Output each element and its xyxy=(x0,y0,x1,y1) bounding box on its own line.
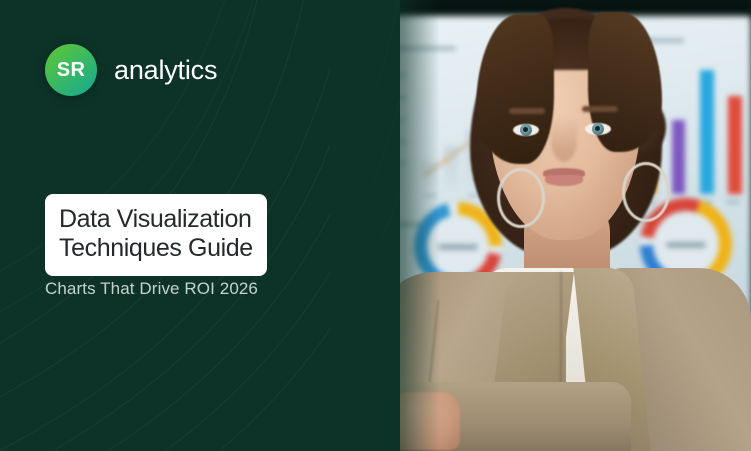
brand-logo-badge[interactable]: SR xyxy=(45,44,97,96)
eyebrow-left xyxy=(509,108,545,114)
nose xyxy=(551,118,577,162)
hoop-earring-left xyxy=(497,168,545,228)
hoop-earring-right xyxy=(622,162,670,222)
panel-photo-gradient-blend xyxy=(330,0,440,451)
brand-badge-label: SR xyxy=(57,60,86,80)
pupil-left xyxy=(523,127,528,132)
lower-lip xyxy=(545,175,583,186)
eyebrow-right xyxy=(582,106,618,112)
page-subtitle: Charts That Drive ROI 2026 xyxy=(45,279,258,299)
pupil-right xyxy=(595,126,600,131)
brand-wordmark: analytics xyxy=(114,57,217,84)
promo-banner: SR analytics Data Visualization Techniqu… xyxy=(0,0,751,451)
page-title: Data Visualization Techniques Guide xyxy=(59,205,253,263)
brand-lockup[interactable]: SR analytics xyxy=(45,44,217,96)
hair-front-left xyxy=(476,14,554,164)
title-card: Data Visualization Techniques Guide xyxy=(45,194,267,276)
